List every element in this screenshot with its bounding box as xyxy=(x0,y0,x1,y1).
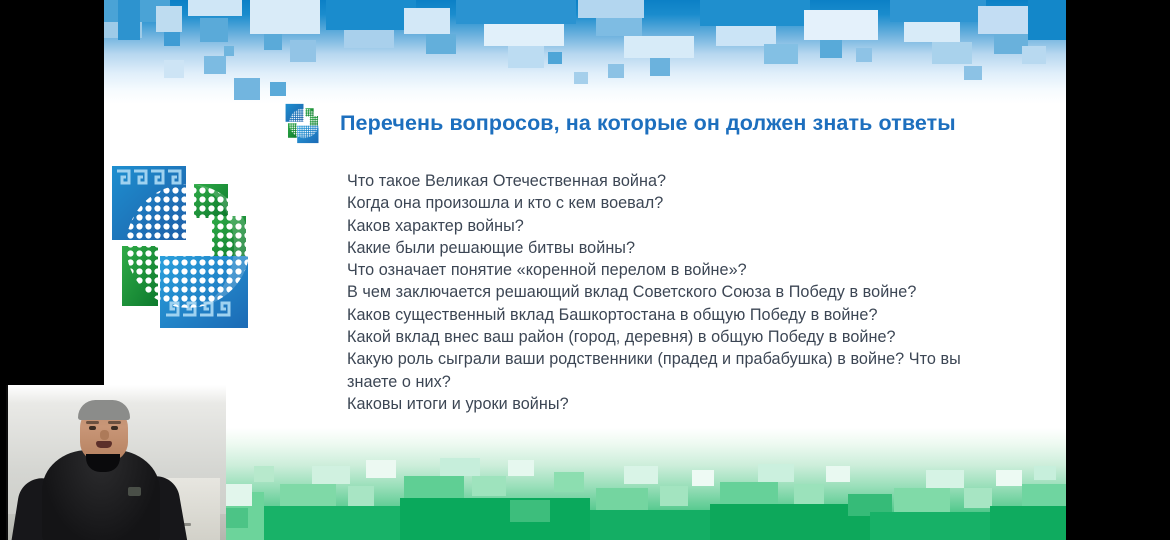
presenter-eye-left xyxy=(89,426,96,430)
organization-logo xyxy=(108,150,260,340)
list-item: Каков существенный вклад Башкортостана в… xyxy=(347,304,1007,326)
list-item: В чем заключается решающий вклад Советск… xyxy=(347,281,1007,303)
list-item: Какие были решающие битвы войны? xyxy=(347,237,1007,259)
presenter-hair xyxy=(78,400,130,420)
slide-title-row: Перечень вопросов, на которые он должен … xyxy=(280,100,956,146)
jacket-logo-patch xyxy=(128,487,141,496)
list-item: Какую роль сыграли ваши родственники (пр… xyxy=(347,348,1007,393)
presenter-mouth xyxy=(96,441,112,448)
page-title: Перечень вопросов, на которые он должен … xyxy=(340,111,956,136)
list-item: Каков характер войны? xyxy=(347,215,1007,237)
presenter-brow-left xyxy=(86,421,99,424)
video-frame: Перечень вопросов, на которые он должен … xyxy=(0,0,1170,540)
presentation-slide: Перечень вопросов, на которые он должен … xyxy=(104,0,1066,540)
list-item: Что такое Великая Отечественная война? xyxy=(347,170,1007,192)
list-item: Каковы итоги и уроки войны? xyxy=(347,393,1007,415)
list-item: Какой вклад внес ваш район (город, дерев… xyxy=(347,326,1007,348)
presenter-eye-right xyxy=(111,426,118,430)
presenter-brow-right xyxy=(108,421,121,424)
list-item: Когда она произошла и кто с кем воевал? xyxy=(347,192,1007,214)
bottom-mosaic-banner xyxy=(104,428,1066,540)
presenter-nose xyxy=(100,430,109,440)
question-list: Что такое Великая Отечественная война? К… xyxy=(347,170,1007,415)
top-mosaic-banner xyxy=(104,0,1066,104)
list-item: Что означает понятие «коренной перелом в… xyxy=(347,259,1007,281)
logo-small-icon xyxy=(280,100,326,146)
presenter-video-inset[interactable] xyxy=(6,385,226,540)
